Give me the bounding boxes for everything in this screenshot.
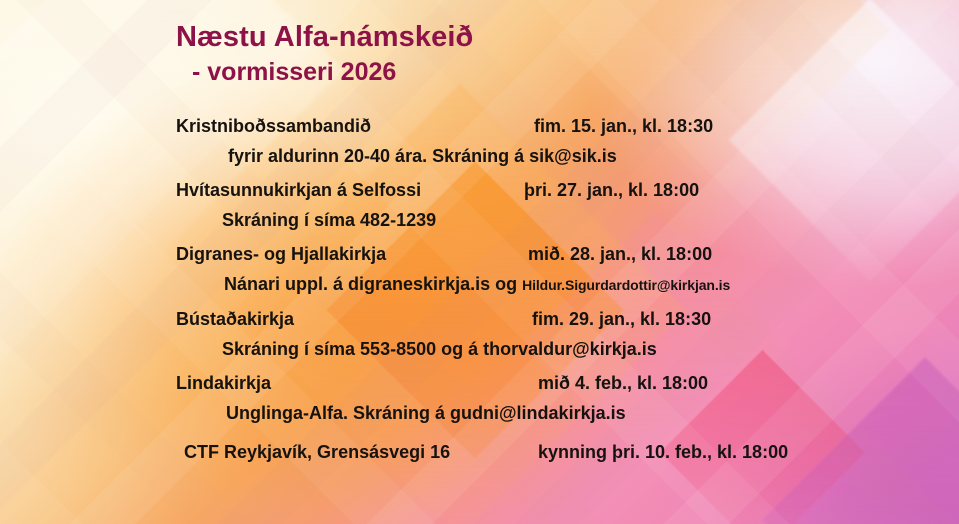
course-detail: fyrir aldurinn 20-40 ára. Skráning á sik…: [0, 146, 959, 167]
course-venue: Digranes- og Hjallakirkja: [176, 244, 386, 265]
course-detail: Skráning í síma 482-1239: [0, 210, 959, 231]
list-item: Digranes- og Hjallakirkja mið. 28. jan.,…: [0, 244, 959, 295]
poster-canvas: Næstu Alfa-námskeið - vormisseri 2026 Kr…: [0, 0, 959, 524]
list-item: Bústaðakirkja fim. 29. jan., kl. 18:30 S…: [0, 309, 959, 360]
list-item: Lindakirkja mið 4. feb., kl. 18:00 Ungli…: [0, 373, 959, 424]
course-entry-header: Kristniboðssambandið fim. 15. jan., kl. …: [0, 116, 959, 142]
course-venue: CTF Reykjavík, Grensásvegi 16: [184, 442, 450, 463]
course-datetime: mið. 28. jan., kl. 18:00: [528, 244, 712, 265]
list-item: Hvítasunnukirkjan á Selfossi þri. 27. ja…: [0, 180, 959, 231]
course-detail-text: fyrir aldurinn 20-40 ára. Skráning á sik…: [228, 146, 617, 166]
course-venue: Kristniboðssambandið: [176, 116, 371, 137]
course-datetime: fim. 15. jan., kl. 18:30: [534, 116, 713, 137]
course-detail: Skráning í síma 553-8500 og á thorvaldur…: [0, 339, 959, 360]
course-detail-text: Unglinga-Alfa. Skráning á gudni@lindakir…: [226, 403, 626, 423]
page-title: Næstu Alfa-námskeið: [176, 22, 473, 53]
course-entry-header: Hvítasunnukirkjan á Selfossi þri. 27. ja…: [0, 180, 959, 206]
title-block: Næstu Alfa-námskeið - vormisseri 2026: [176, 22, 473, 86]
page-subtitle: - vormisseri 2026: [192, 59, 473, 86]
course-entry-header: Lindakirkja mið 4. feb., kl. 18:00: [0, 373, 959, 399]
course-datetime: fim. 29. jan., kl. 18:30: [532, 309, 711, 330]
list-item-final: CTF Reykjavík, Grensásvegi 16 kynning þr…: [0, 442, 959, 468]
course-datetime: kynning þri. 10. feb., kl. 18:00: [538, 442, 788, 463]
course-datetime: mið 4. feb., kl. 18:00: [538, 373, 708, 394]
course-detail-text: Skráning í síma 553-8500 og á thorvaldur…: [222, 339, 657, 359]
course-entry-header: Bústaðakirkja fim. 29. jan., kl. 18:30: [0, 309, 959, 335]
course-venue: Lindakirkja: [176, 373, 271, 394]
course-detail-email: Hildur.Sigurdardottir@kirkjan.is: [522, 277, 730, 293]
course-detail-text: Nánari uppl. á digraneskirkja.is og: [224, 274, 522, 294]
course-datetime: þri. 27. jan., kl. 18:00: [524, 180, 699, 201]
poster-content: Næstu Alfa-námskeið - vormisseri 2026 Kr…: [0, 0, 959, 524]
course-venue: Bústaðakirkja: [176, 309, 294, 330]
course-list: Kristniboðssambandið fim. 15. jan., kl. …: [0, 116, 959, 468]
course-detail-text: Skráning í síma 482-1239: [222, 210, 436, 230]
list-item: Kristniboðssambandið fim. 15. jan., kl. …: [0, 116, 959, 167]
course-detail: Nánari uppl. á digraneskirkja.is og Hild…: [0, 274, 959, 295]
course-venue: Hvítasunnukirkjan á Selfossi: [176, 180, 421, 201]
course-entry-header: Digranes- og Hjallakirkja mið. 28. jan.,…: [0, 244, 959, 270]
course-detail: Unglinga-Alfa. Skráning á gudni@lindakir…: [0, 403, 959, 424]
